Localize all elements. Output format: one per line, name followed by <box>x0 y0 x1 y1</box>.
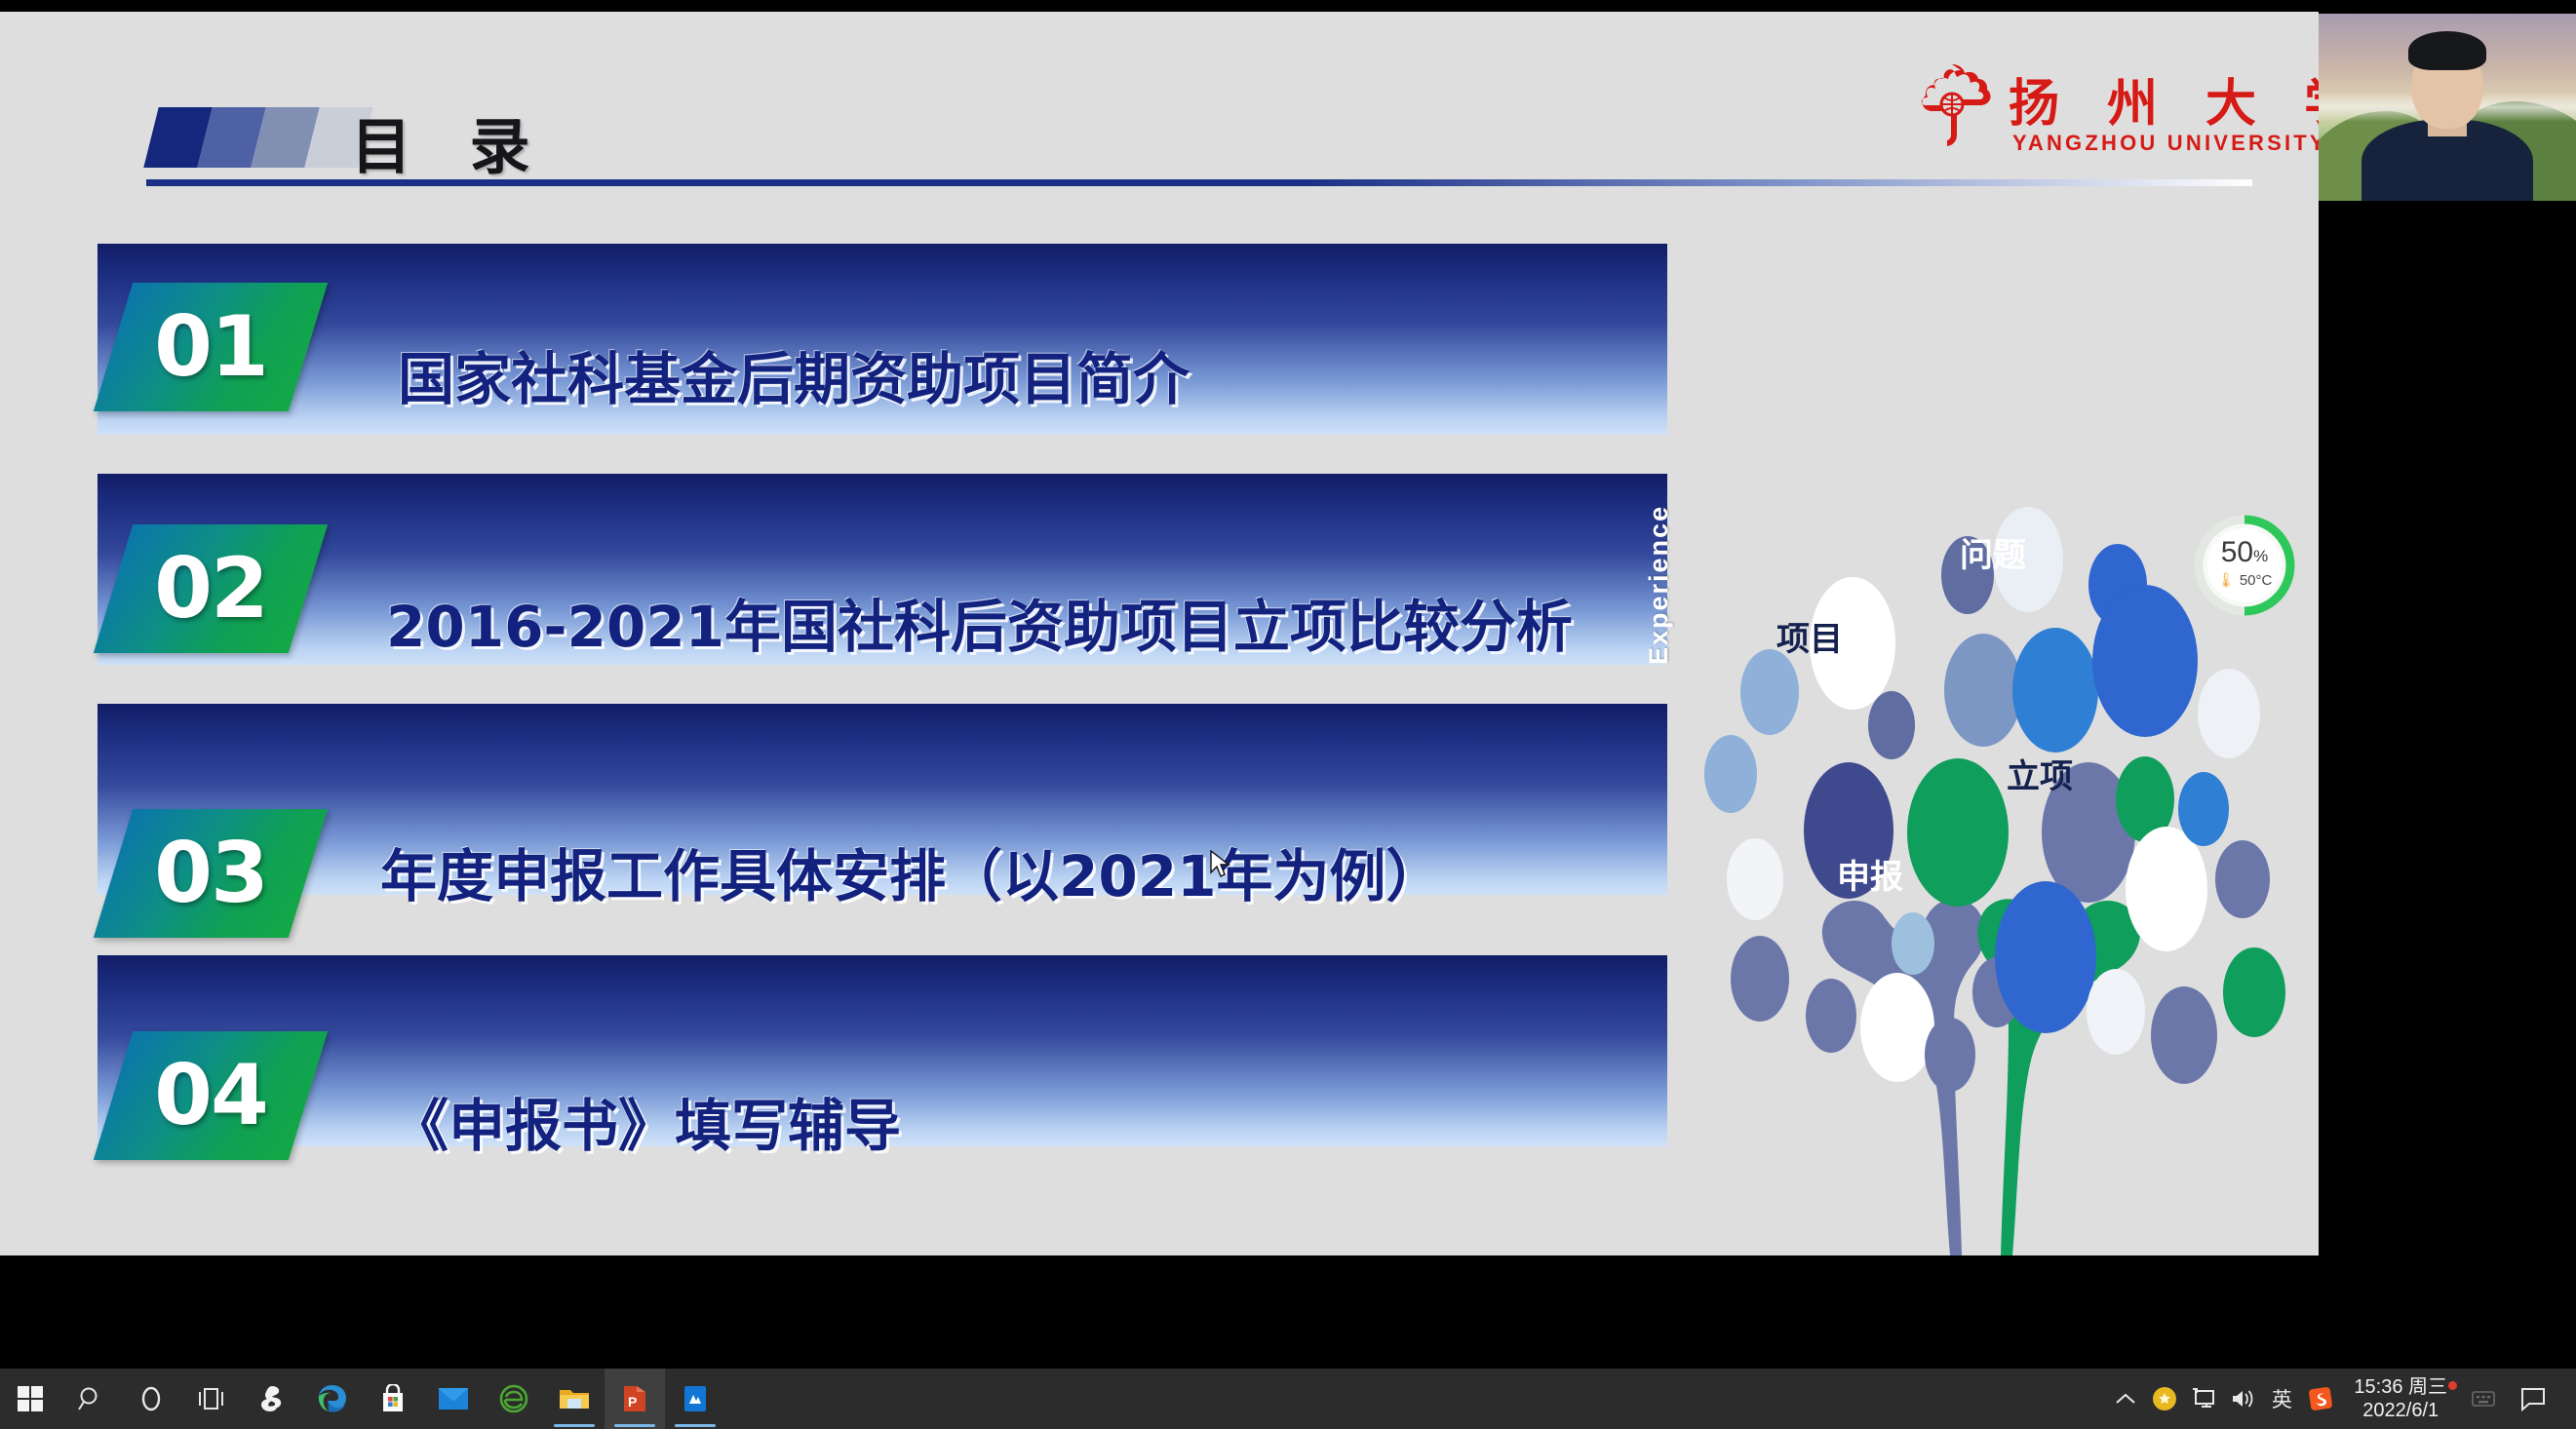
windows-logo-icon <box>17 1385 44 1412</box>
agenda-label: 《申报书》填写辅导 <box>392 1080 901 1162</box>
antivirus-icon[interactable] <box>2145 1369 2184 1429</box>
sogou-ime-logo-icon <box>2308 1386 2333 1411</box>
touch-keyboard-icon[interactable] <box>2461 1369 2506 1429</box>
ime-language-indicator[interactable]: 英 <box>2262 1369 2301 1429</box>
search-icon[interactable] <box>60 1369 121 1429</box>
agenda-item-03[interactable]: 03 年度申报工作具体安排（以2021年为例） <box>98 704 1667 895</box>
university-logo: 扬 州 大 学 YANGZHOU UNIVERSITY <box>1907 58 2297 166</box>
agenda-item-01[interactable]: 01 国家社科基金后期资助项目简介 <box>98 244 1667 435</box>
cortana-icon[interactable] <box>121 1369 181 1429</box>
folder-icon <box>559 1386 590 1411</box>
sogou-glyph-icon <box>257 1384 287 1413</box>
powerpoint-logo-icon: P <box>622 1384 647 1413</box>
page-title: 目 录 <box>351 97 552 185</box>
speaker-icon <box>2230 1387 2255 1410</box>
action-center-icon[interactable] <box>2506 1369 2560 1429</box>
keyboard-icon <box>2472 1389 2495 1409</box>
task-view-icon[interactable] <box>181 1369 242 1429</box>
start-button[interactable] <box>0 1369 60 1429</box>
ie-browser-icon[interactable] <box>484 1369 544 1429</box>
agenda-number-badge: 02 <box>94 524 328 653</box>
windows-taskbar[interactable]: P <box>0 1369 2576 1429</box>
clock-time: 15:36 周三 <box>2354 1375 2447 1399</box>
taskbar-app-area: P <box>0 1369 725 1429</box>
volume-icon[interactable] <box>2223 1369 2262 1429</box>
tray-overflow-chevron-icon[interactable] <box>2106 1369 2145 1429</box>
heading-divider <box>146 179 2252 186</box>
agenda-item-04[interactable]: 04 《申报书》填写辅导 <box>98 955 1667 1146</box>
chevron-up-icon <box>2115 1391 2136 1407</box>
sogou-ime-icon[interactable] <box>2301 1369 2340 1429</box>
gauge-temperature-value: 🌡 50°C <box>2190 571 2299 589</box>
agenda-number: 03 <box>113 809 308 938</box>
taskbar-empty-space <box>725 1369 2106 1429</box>
desktop-screen: 目 录 扬 州 大 学 YANGZHOU UNIVERSITY 01 国家社 <box>0 0 2576 1429</box>
yangzhou-university-emblem-icon <box>1907 60 1997 150</box>
edge-browser-icon[interactable] <box>302 1369 363 1429</box>
sogou-app-icon[interactable] <box>242 1369 302 1429</box>
taskbar-clock[interactable]: 15:36 周三 2022/6/1 <box>2340 1375 2461 1423</box>
ie-e-glyph-icon <box>499 1384 528 1413</box>
svg-text:P: P <box>628 1394 637 1410</box>
agenda-label: 国家社科基金后期资助项目简介 <box>398 333 1190 415</box>
notification-badge-dot <box>2448 1381 2457 1390</box>
file-explorer-icon[interactable] <box>544 1369 605 1429</box>
agenda-number: 01 <box>113 283 308 411</box>
agenda-number-badge: 04 <box>94 1031 328 1160</box>
thermometer-icon: 🌡 <box>2217 572 2236 589</box>
agenda-number-badge: 01 <box>94 283 328 411</box>
leaf-label-liqiang: 立项 <box>2007 750 2073 797</box>
cortana-ring-icon <box>138 1386 164 1411</box>
logo-english-name: YANGZHOU UNIVERSITY <box>2012 131 2319 156</box>
microsoft-store-icon[interactable] <box>363 1369 423 1429</box>
speech-bubble-icon <box>2519 1386 2547 1411</box>
leaf-label-shenbao: 申报 <box>1837 850 1903 898</box>
meeting-logo-icon <box>683 1384 708 1413</box>
heading-decoration-bars <box>151 107 366 168</box>
mail-icon[interactable] <box>423 1369 484 1429</box>
leaf-label-wenti: 问题 <box>1960 528 2026 576</box>
agenda-number-badge: 03 <box>94 809 328 938</box>
task-view-panes-icon <box>198 1386 225 1411</box>
logo-chinese-name: 扬 州 大 学 <box>2009 62 2319 135</box>
agenda-item-02[interactable]: 02 2016-2021年国社科后资助项目立项比较分析 <box>98 474 1667 665</box>
agenda-label: 年度申报工作具体安排（以2021年为例） <box>380 830 1442 912</box>
leaf-label-xiangmu: 项目 <box>1776 612 1843 660</box>
envelope-icon <box>438 1386 469 1411</box>
edge-swirl-icon <box>317 1383 348 1414</box>
agenda-number: 04 <box>113 1031 308 1160</box>
clock-date: 2022/6/1 <box>2354 1399 2447 1422</box>
meeting-app-icon[interactable] <box>665 1369 725 1429</box>
agenda-label: 2016-2021年国社科后资助项目立项比较分析 <box>386 581 1573 663</box>
system-tray: 英 15:36 周三 2022/6/1 <box>2106 1369 2576 1429</box>
agenda-number: 02 <box>113 524 308 653</box>
webcam-video-feed[interactable] <box>2319 14 2576 201</box>
magnifier-icon <box>77 1385 104 1412</box>
mouse-cursor <box>1209 850 1230 879</box>
security-shield-icon <box>2151 1385 2178 1412</box>
graphic-side-label: Experience <box>1644 505 1674 665</box>
store-bag-icon <box>379 1384 407 1413</box>
speaker-hair <box>2408 31 2486 70</box>
powerpoint-icon[interactable]: P <box>605 1369 665 1429</box>
powerpoint-slideshow[interactable]: 目 录 扬 州 大 学 YANGZHOU UNIVERSITY 01 国家社 <box>0 12 2319 1255</box>
show-desktop-button[interactable] <box>2560 1369 2570 1429</box>
temperature-gauge-widget: 50% 🌡 50°C <box>2190 511 2299 620</box>
network-icon[interactable] <box>2184 1369 2223 1429</box>
monitor-network-icon <box>2191 1387 2216 1410</box>
gauge-percent-value: 50% <box>2190 536 2299 569</box>
